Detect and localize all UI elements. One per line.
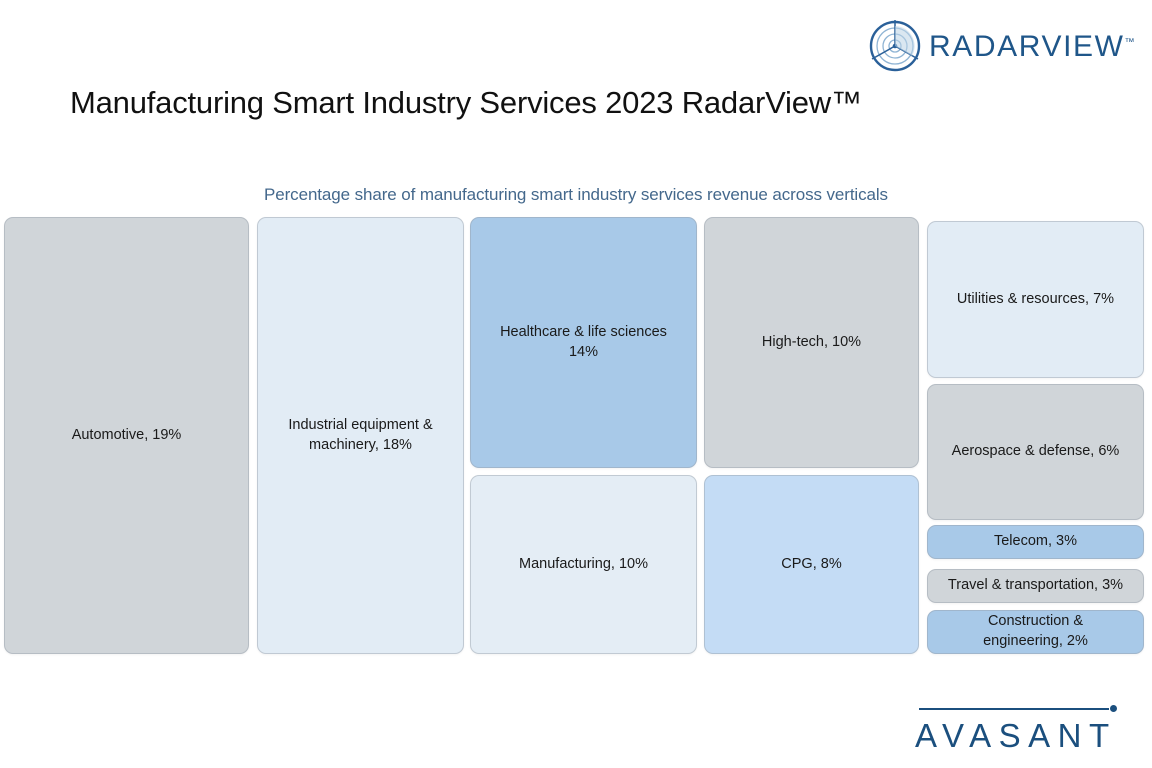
- treemap-tile-label: High-tech, 10%: [762, 333, 861, 353]
- treemap-tile-label: Telecom, 3%: [994, 532, 1077, 552]
- treemap-tile-label: Automotive, 19%: [72, 426, 182, 446]
- treemap-tile-telecom[interactable]: Telecom, 3%: [927, 525, 1144, 559]
- treemap-tile-manufacturing[interactable]: Manufacturing, 10%: [470, 475, 697, 654]
- treemap-chart: Automotive, 19% Industrial equipment & m…: [0, 0, 1152, 768]
- treemap-tile-construction-engineering[interactable]: Construction & engineering, 2%: [927, 610, 1144, 654]
- treemap-tile-label: Travel & transportation, 3%: [948, 576, 1123, 596]
- treemap-tile-label: Healthcare & life sciences 14%: [500, 323, 667, 362]
- treemap-tile-label: Construction & engineering, 2%: [983, 612, 1088, 651]
- avasant-rule-decoration: [919, 708, 1109, 710]
- avasant-wordmark: AVASANT: [915, 717, 1117, 755]
- treemap-tile-cpg[interactable]: CPG, 8%: [704, 475, 919, 654]
- treemap-tile-automotive[interactable]: Automotive, 19%: [4, 217, 249, 654]
- treemap-tile-label: Aerospace & defense, 6%: [952, 442, 1120, 462]
- treemap-tile-healthcare-life-sciences[interactable]: Healthcare & life sciences 14%: [470, 217, 697, 468]
- avasant-logo: AVASANT: [915, 700, 1125, 758]
- treemap-tile-utilities-resources[interactable]: Utilities & resources, 7%: [927, 221, 1144, 378]
- treemap-tile-label: CPG, 8%: [781, 555, 841, 575]
- treemap-tile-aerospace-defense[interactable]: Aerospace & defense, 6%: [927, 384, 1144, 520]
- treemap-tile-label: Utilities & resources, 7%: [957, 290, 1114, 310]
- avasant-dot-decoration: [1110, 705, 1117, 712]
- slide-canvas: RADARVIEW™ Manufacturing Smart Industry …: [0, 0, 1152, 768]
- treemap-tile-label: Manufacturing, 10%: [519, 555, 648, 575]
- treemap-tile-industrial-equipment-machinery[interactable]: Industrial equipment & machinery, 18%: [257, 217, 464, 654]
- treemap-tile-high-tech[interactable]: High-tech, 10%: [704, 217, 919, 468]
- treemap-tile-label: Industrial equipment & machinery, 18%: [288, 416, 432, 455]
- treemap-tile-travel-transportation[interactable]: Travel & transportation, 3%: [927, 569, 1144, 603]
